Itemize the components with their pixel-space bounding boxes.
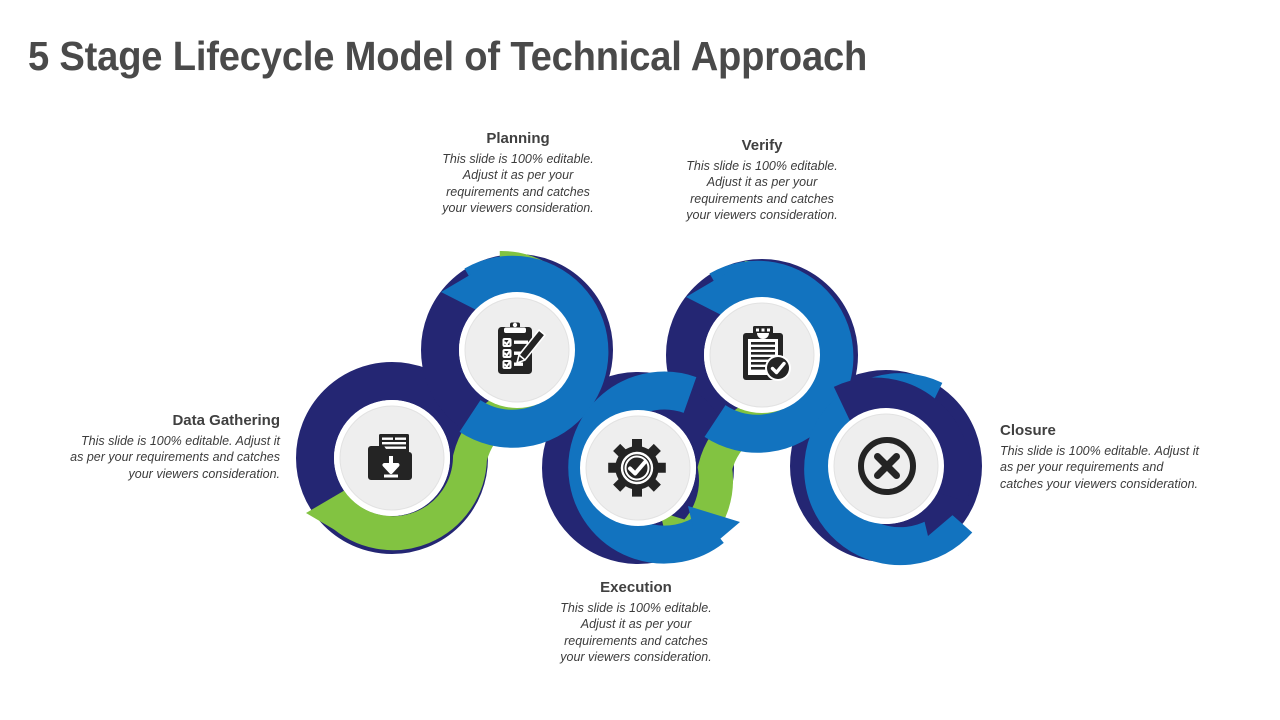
stage-label-verify: Verify (684, 137, 840, 156)
folder-download-icon (359, 426, 423, 490)
stage-label-data-gathering: Data Gathering (68, 412, 280, 431)
stage-body-planning: This slide is 100% editable. Adjust it a… (440, 151, 596, 217)
stage-text-execution: Execution This slide is 100% editable. A… (556, 579, 716, 666)
lifecycle-diagram: Data Gathering This slide is 100% editab… (0, 0, 1280, 720)
clipboard-checklist-pencil-icon (487, 318, 551, 382)
stage-label-planning: Planning (440, 130, 596, 149)
stage-label-closure: Closure (1000, 422, 1208, 441)
stage-text-verify: Verify This slide is 100% editable. Adju… (684, 137, 840, 224)
stage-body-verify: This slide is 100% editable. Adjust it a… (684, 158, 840, 224)
stage-text-closure: Closure This slide is 100% editable. Adj… (1000, 422, 1208, 492)
stage-text-data-gathering: Data Gathering This slide is 100% editab… (68, 412, 280, 482)
x-circle-icon (855, 434, 919, 498)
clipboard-verified-icon (731, 322, 795, 386)
stage-body-data-gathering: This slide is 100% editable. Adjust it a… (68, 433, 280, 483)
stage-body-execution: This slide is 100% editable. Adjust it a… (556, 600, 716, 666)
stage-label-execution: Execution (556, 579, 716, 598)
stage-body-closure: This slide is 100% editable. Adjust it a… (1000, 443, 1208, 493)
stage-text-planning: Planning This slide is 100% editable. Ad… (440, 130, 596, 217)
gear-check-icon (605, 436, 669, 500)
